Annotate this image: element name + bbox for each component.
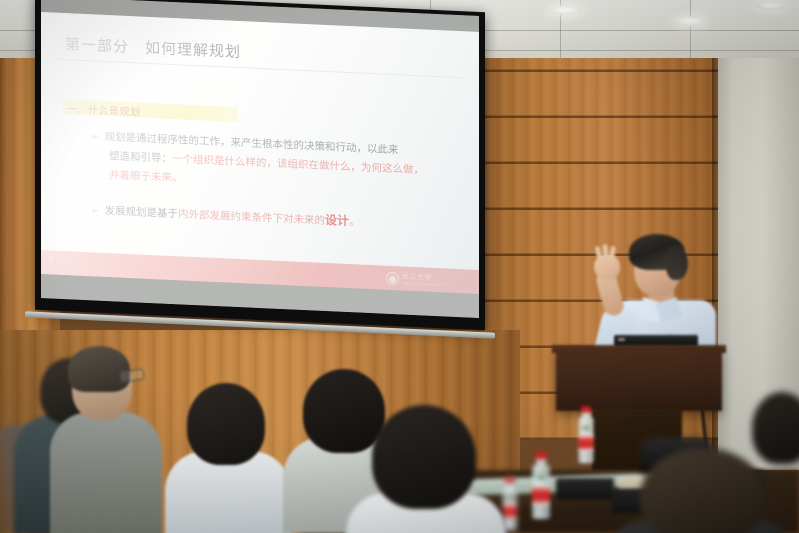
slide-page-number: 5 <box>49 254 53 263</box>
audience-head <box>303 369 385 453</box>
podium <box>556 349 722 411</box>
bullet-2-mid: 内外部发展约束条件下对未来的 <box>178 208 325 227</box>
ceiling-light <box>756 2 786 10</box>
audience-head <box>372 405 476 509</box>
water-bottle <box>578 406 595 466</box>
slide-title-part2: 如何理解规划 <box>145 40 241 61</box>
bullet-2-emphasis: 设计 <box>325 213 349 228</box>
section-heading: 一、什么是规划 <box>67 100 141 118</box>
bullet-1-line-3: 并着眼于未来。 <box>109 166 183 188</box>
bullet-1-line-3-red: 并着眼于未来。 <box>109 169 183 184</box>
bullet-item: ➢发展规划是基于内外部发展约束条件下对未来的设计。 <box>91 200 360 232</box>
audience-head <box>640 448 766 533</box>
ceiling-light <box>548 6 582 15</box>
water-bottle <box>531 452 551 522</box>
university-logo: 长江大学 YANGTZE UNIVERSITY <box>386 271 446 288</box>
presenter-hair-back <box>666 246 688 280</box>
slide-title: 第一部分如何理解规划 <box>65 33 241 62</box>
slide-title-part1: 第一部分 <box>65 36 129 56</box>
presentation-slide: 第一部分如何理解规划 一、什么是规划 ➢规划是通过程序性的工作，来产生根本性的决… <box>41 12 479 294</box>
bullet-2-tail: 。 <box>349 216 360 228</box>
laptop-brand-icon <box>618 338 625 341</box>
audience-head <box>752 392 799 464</box>
projection-screen: 第一部分如何理解规划 一、什么是规划 ➢规划是通过程序性的工作，来产生根本性的决… <box>35 0 485 330</box>
bullet-1-line-2-dark: 塑造和引导： <box>109 150 172 165</box>
title-divider <box>53 59 463 79</box>
desk-object <box>556 478 614 500</box>
bullet-2-lead: 发展规划是基于 <box>105 205 179 220</box>
ceiling-light <box>674 17 706 26</box>
audience-body <box>50 412 162 533</box>
university-name-sub: YANGTZE UNIVERSITY <box>402 281 446 287</box>
university-emblem-icon <box>386 271 399 285</box>
bullet-marker-icon: ➢ <box>91 205 99 215</box>
bullet-marker-icon: ➢ <box>91 131 99 141</box>
audience-hair <box>68 346 130 392</box>
projection-surface: 第一部分如何理解规划 一、什么是规划 ➢规划是通过程序性的工作，来产生根本性的决… <box>41 0 479 318</box>
audience-head <box>187 383 265 465</box>
lecture-hall-photo: 第一部分如何理解规划 一、什么是规划 ➢规划是通过程序性的工作，来产生根本性的决… <box>0 0 799 533</box>
presenter-hand <box>594 254 620 280</box>
